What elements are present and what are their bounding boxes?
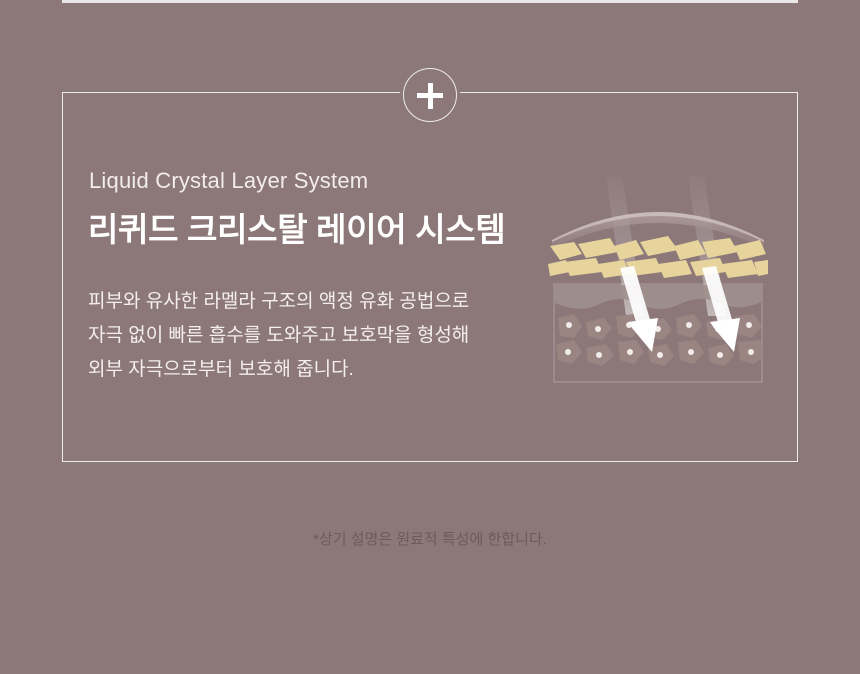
panel-headline: 리퀴드 크리스탈 레이어 시스템 — [88, 203, 505, 251]
plus-icon[interactable] — [403, 68, 457, 122]
body-copy-line-1: 피부와 유사한 라멜라 구조의 액정 유화 공법으로 — [88, 285, 528, 319]
section-divider — [62, 0, 798, 3]
panel-body-copy: 피부와 유사한 라멜라 구조의 액정 유화 공법으로 자극 없이 빠른 흡수를 … — [88, 285, 528, 387]
body-copy-line-2: 자극 없이 빠른 흡수를 도와주고 보호막을 형성해 — [88, 319, 528, 353]
footnote-text: *상기 설명은 원료적 특성에 한합니다. — [0, 528, 860, 549]
lamellar-flake-row-lower — [548, 258, 768, 278]
skin-layer-diagram — [548, 176, 768, 388]
plus-icon-vertical-bar — [428, 83, 433, 109]
panel-eyebrow: Liquid Crystal Layer System — [89, 168, 368, 194]
skin-layer-diagram-svg — [548, 176, 768, 388]
page-root: Liquid Crystal Layer System 리퀴드 크리스탈 레이어… — [0, 0, 860, 674]
body-copy-line-3: 외부 자극으로부터 보호해 줍니다. — [88, 353, 528, 387]
lamellar-flake-row-upper — [550, 236, 766, 260]
barrier-band — [555, 285, 761, 309]
